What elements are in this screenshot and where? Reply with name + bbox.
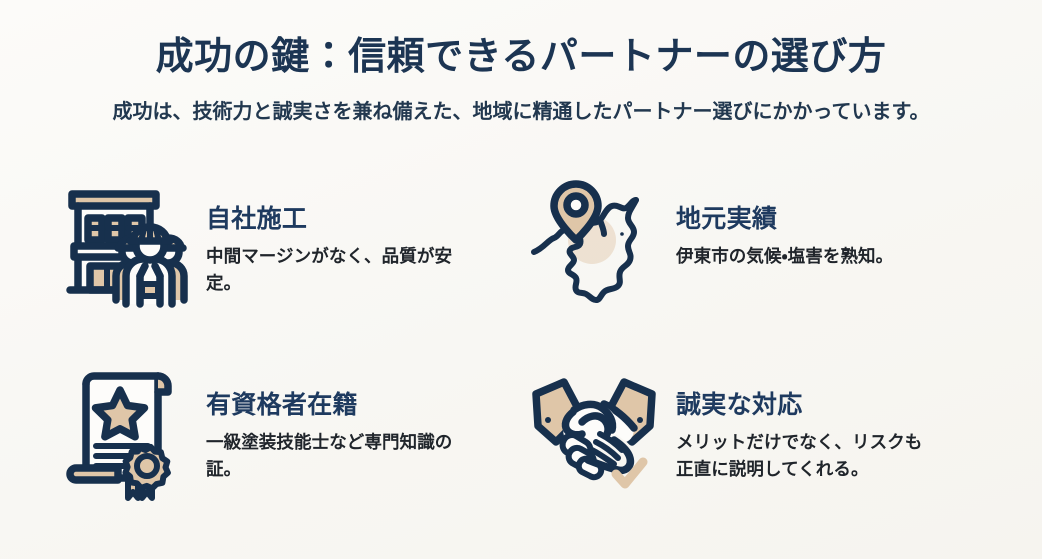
feature-grid: 自社施工 中間マージンがなく、品質が安定。 — [60, 178, 982, 550]
feature-description: 中間マージンがなく、品質が安定。 — [206, 243, 474, 297]
certificate-seal-icon — [60, 364, 188, 492]
feature-text: 自社施工 中間マージンがなく、品質が安定。 — [206, 178, 474, 297]
slide-root: 成功の鍵：信頼できるパートナーの選び方 成功は、技術力と誠実さを兼ね備えた、地域… — [0, 0, 1042, 559]
page-subtitle: 成功は、技術力と誠実さを兼ね備えた、地域に精通したパートナー選びにかかっています… — [0, 98, 1042, 126]
feature-item-seijitsu-taio: 誠実な対応 メリットだけでなく、リスクも正直に説明してくれる。 — [530, 364, 982, 550]
feature-text: 誠実な対応 メリットだけでなく、リスクも正直に説明してくれる。 — [676, 364, 938, 483]
feature-description: メリットだけでなく、リスクも正直に説明してくれる。 — [676, 429, 938, 483]
feature-item-jimoto-jisseki: 地元実績 伊東市の気候・塩害を熟知。 — [530, 178, 982, 364]
handshake-check-icon — [530, 364, 658, 492]
storefront-workers-icon — [60, 178, 188, 306]
map-pin-region-icon — [530, 178, 658, 306]
feature-description: 一級塗装技能士など専門知識の証。 — [206, 429, 474, 483]
feature-description: 伊東市の気候・塩害を熟知。 — [676, 243, 893, 270]
feature-item-yushikakusha-zaiseki: 有資格者在籍 一級塗装技能士など専門知識の証。 — [60, 364, 530, 550]
feature-title: 有資格者在籍 — [206, 390, 474, 420]
feature-title: 誠実な対応 — [676, 390, 938, 420]
feature-title: 地元実績 — [676, 204, 893, 234]
feature-text: 地元実績 伊東市の気候・塩害を熟知。 — [676, 178, 893, 270]
feature-text: 有資格者在籍 一級塗装技能士など専門知識の証。 — [206, 364, 474, 483]
page-title: 成功の鍵：信頼できるパートナーの選び方 — [0, 34, 1042, 82]
header: 成功の鍵：信頼できるパートナーの選び方 成功は、技術力と誠実さを兼ね備えた、地域… — [0, 0, 1042, 126]
feature-title: 自社施工 — [206, 204, 474, 234]
feature-item-jisha-seko: 自社施工 中間マージンがなく、品質が安定。 — [60, 178, 530, 364]
